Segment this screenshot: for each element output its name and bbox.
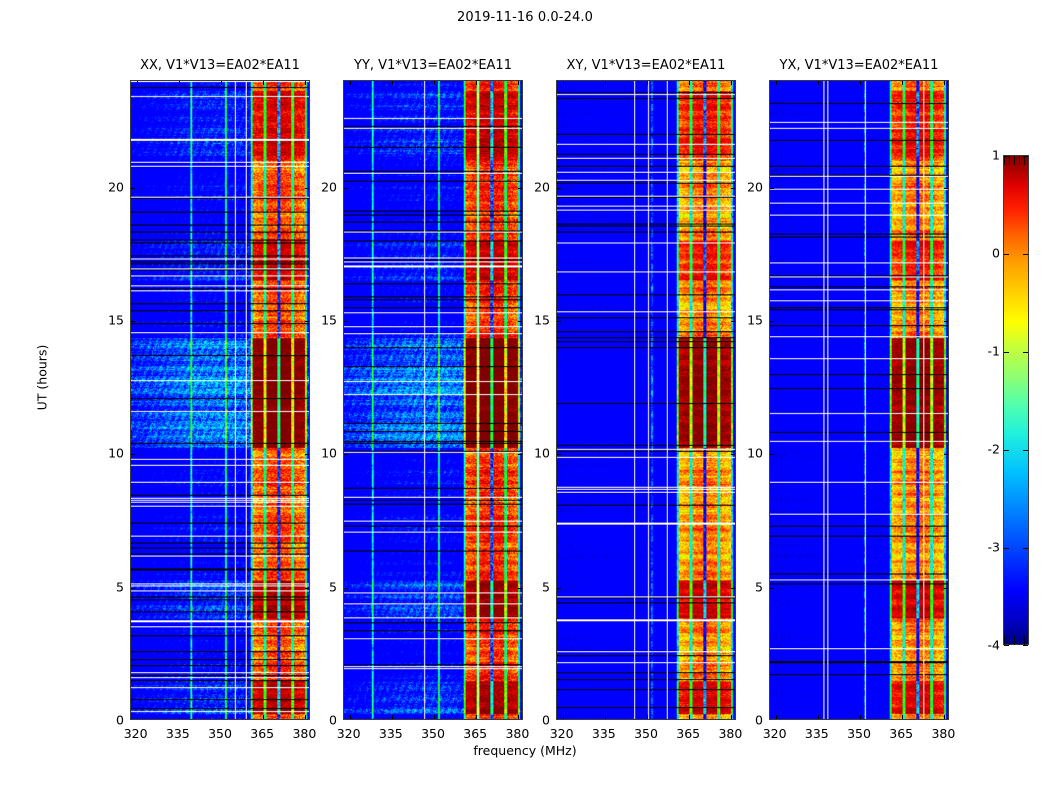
y-tick-label: 15 [747, 313, 763, 328]
y-tick-label: 5 [542, 579, 550, 594]
y-tick-mark [131, 588, 135, 589]
y-tick-mark [944, 321, 948, 322]
x-tick-mark [137, 715, 138, 719]
x-tick-label: 335 [166, 726, 190, 741]
x-tick-label: 365 [463, 726, 487, 741]
y-tick-label: 10 [534, 446, 550, 461]
y-tick-mark [557, 321, 561, 322]
colorbar-tick-mark [1023, 450, 1028, 451]
y-tick-mark [344, 588, 348, 589]
spectrum-panel-yx[interactable] [769, 80, 949, 720]
x-tick-label: 335 [592, 726, 616, 741]
x-tick-mark [434, 81, 435, 85]
x-tick-mark [305, 715, 306, 719]
x-tick-label: 350 [208, 726, 232, 741]
colorbar-tick-mark [1023, 352, 1028, 353]
y-tick-mark [557, 188, 561, 189]
y-tick-label: 5 [116, 579, 124, 594]
panel-title-yy: YY, V1*V13=EA02*EA11 [343, 58, 523, 73]
x-tick-mark [305, 81, 306, 85]
dynamic-spectrum-image-yx [770, 81, 948, 719]
colorbar-tick-label: -1 [988, 344, 1000, 359]
y-tick-mark [131, 321, 135, 322]
y-tick-label: 0 [329, 713, 337, 728]
y-tick-label: 10 [747, 446, 763, 461]
colorbar-tick-labels: 10-1-2-3-4 [968, 155, 1000, 645]
y-tick-label: 5 [755, 579, 763, 594]
y-tick-mark [944, 588, 948, 589]
dynamic-spectrum-image-yy [344, 81, 522, 719]
x-tick-mark [263, 81, 264, 85]
x-axis-label: frequency (MHz) [0, 743, 1050, 758]
x-tick-mark [902, 715, 903, 719]
x-tick-mark [221, 81, 222, 85]
y-tick-label: 20 [534, 179, 550, 194]
colorbar-tick-label: -2 [988, 442, 1000, 457]
x-tick-label: 380 [718, 726, 742, 741]
x-tick-mark [731, 715, 732, 719]
spectrum-panel-xx[interactable] [130, 80, 310, 720]
colorbar-tick-mark [1004, 254, 1009, 255]
colorbar-tick-label: 0 [992, 246, 1000, 261]
y-tick-mark [557, 588, 561, 589]
x-tick-label: 350 [421, 726, 445, 741]
x-tick-mark [860, 715, 861, 719]
x-tick-mark [689, 715, 690, 719]
spectrum-panel-yy[interactable] [343, 80, 523, 720]
y-tick-mark [770, 588, 774, 589]
panel-title-xy: XY, V1*V13=EA02*EA11 [556, 58, 736, 73]
y-tick-labels-xx: 05101520 [96, 80, 130, 720]
y-tick-labels-yy: 05101520 [309, 80, 343, 720]
x-tick-mark [179, 715, 180, 719]
figure-title: 2019-11-16 0.0-24.0 [0, 10, 1050, 25]
x-tick-labels-xx: 320335350365380 [130, 726, 310, 744]
y-tick-mark [557, 454, 561, 455]
y-tick-mark [344, 454, 348, 455]
x-tick-labels-xy: 320335350365380 [556, 726, 736, 744]
panel-title-yx: YX, V1*V13=EA02*EA11 [769, 58, 949, 73]
colorbar-extend-hatch [1004, 636, 1028, 645]
x-tick-mark [221, 715, 222, 719]
x-tick-mark [350, 81, 351, 85]
y-tick-mark [770, 454, 774, 455]
x-tick-mark [605, 81, 606, 85]
x-tick-mark [860, 81, 861, 85]
x-tick-mark [776, 715, 777, 719]
x-tick-mark [647, 81, 648, 85]
colorbar-tick-mark [1023, 645, 1028, 646]
x-tick-mark [434, 715, 435, 719]
x-tick-label: 335 [379, 726, 403, 741]
x-tick-mark [518, 715, 519, 719]
x-tick-mark [137, 81, 138, 85]
y-tick-label: 20 [747, 179, 763, 194]
x-tick-mark [563, 715, 564, 719]
colorbar-tick-mark [1023, 548, 1028, 549]
x-tick-mark [518, 81, 519, 85]
colorbar-tick-mark [1004, 645, 1009, 646]
x-tick-mark [818, 715, 819, 719]
y-tick-label: 0 [116, 713, 124, 728]
dynamic-spectrum-image-xx [131, 81, 309, 719]
x-tick-label: 320 [550, 726, 574, 741]
y-tick-labels-xy: 05101520 [522, 80, 556, 720]
y-tick-mark [770, 321, 774, 322]
y-tick-label: 10 [321, 446, 337, 461]
colorbar[interactable] [1003, 155, 1029, 645]
y-tick-mark [944, 454, 948, 455]
x-tick-labels-yy: 320335350365380 [343, 726, 523, 744]
x-tick-label: 350 [847, 726, 871, 741]
x-tick-mark [392, 715, 393, 719]
colorbar-tick-mark [1023, 254, 1028, 255]
spectrum-panel-xy[interactable] [556, 80, 736, 720]
y-tick-label: 0 [542, 713, 550, 728]
colorbar-tick-mark [1004, 450, 1009, 451]
y-tick-label: 15 [534, 313, 550, 328]
x-tick-mark [605, 715, 606, 719]
y-tick-mark [131, 454, 135, 455]
x-tick-label: 350 [634, 726, 658, 741]
colorbar-tick-mark [1004, 548, 1009, 549]
x-tick-label: 380 [931, 726, 955, 741]
y-tick-mark [944, 188, 948, 189]
x-tick-mark [902, 81, 903, 85]
x-tick-labels-yx: 320335350365380 [769, 726, 949, 744]
x-tick-mark [944, 715, 945, 719]
x-tick-mark [689, 81, 690, 85]
x-tick-mark [179, 81, 180, 85]
x-tick-mark [476, 715, 477, 719]
x-tick-label: 335 [805, 726, 829, 741]
x-tick-label: 365 [676, 726, 700, 741]
colorbar-tick-mark [1004, 352, 1009, 353]
y-tick-label: 15 [321, 313, 337, 328]
y-tick-label: 15 [108, 313, 124, 328]
colorbar-tick-label: -3 [988, 540, 1000, 555]
x-tick-label: 380 [292, 726, 316, 741]
x-tick-mark [392, 81, 393, 85]
x-tick-mark [944, 81, 945, 85]
y-axis-label: UT (hours) [35, 318, 50, 438]
x-tick-mark [350, 715, 351, 719]
panel-title-xx: XX, V1*V13=EA02*EA11 [130, 58, 310, 73]
colorbar-tick-label: -4 [988, 638, 1000, 653]
x-tick-label: 320 [337, 726, 361, 741]
x-tick-mark [563, 81, 564, 85]
x-tick-label: 320 [763, 726, 787, 741]
y-tick-mark [131, 188, 135, 189]
x-tick-mark [263, 715, 264, 719]
y-tick-label: 10 [108, 446, 124, 461]
x-tick-label: 320 [124, 726, 148, 741]
y-tick-label: 5 [329, 579, 337, 594]
colorbar-tick-label: 1 [992, 148, 1000, 163]
y-tick-label: 0 [755, 713, 763, 728]
x-tick-mark [647, 715, 648, 719]
x-tick-mark [476, 81, 477, 85]
x-tick-mark [731, 81, 732, 85]
y-tick-labels-yx: 05101520 [735, 80, 769, 720]
colorbar-extend-hatch [1004, 156, 1028, 165]
y-tick-mark [344, 321, 348, 322]
dynamic-spectrum-image-xy [557, 81, 735, 719]
y-tick-label: 20 [108, 179, 124, 194]
y-tick-mark [770, 188, 774, 189]
x-tick-mark [776, 81, 777, 85]
x-tick-label: 365 [250, 726, 274, 741]
x-tick-label: 380 [505, 726, 529, 741]
y-tick-label: 20 [321, 179, 337, 194]
x-tick-label: 365 [889, 726, 913, 741]
y-tick-mark [344, 188, 348, 189]
x-tick-mark [818, 81, 819, 85]
